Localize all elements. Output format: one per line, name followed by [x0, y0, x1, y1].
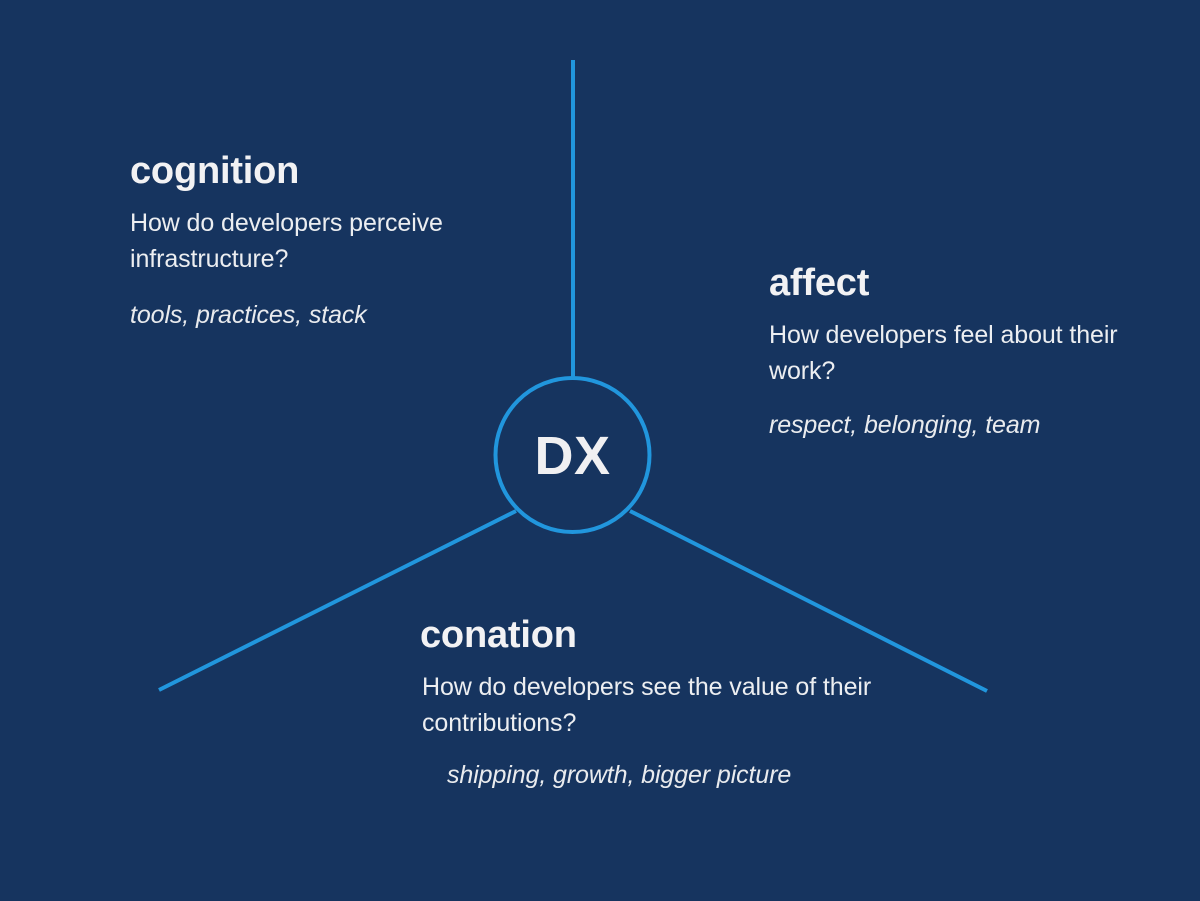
- branch-conation-keywords: shipping, growth, bigger picture: [447, 759, 940, 792]
- branch-conation-question: How do developers see the value of their…: [422, 670, 940, 741]
- diagram-canvas: DX cognition How do developers perceive …: [0, 0, 1200, 901]
- branch-cognition: cognition How do developers perceive inf…: [130, 152, 550, 332]
- branch-cognition-question: How do developers perceive infrastructur…: [130, 206, 550, 277]
- branch-affect-keywords: respect, belonging, team: [769, 409, 1169, 442]
- branch-affect: affect How developers feel about their w…: [769, 264, 1169, 442]
- branch-conation: conation How do developers see the value…: [420, 616, 940, 792]
- branch-conation-title: conation: [420, 616, 940, 654]
- branch-affect-title: affect: [769, 264, 1169, 302]
- branch-affect-question: How developers feel about their work?: [769, 318, 1169, 389]
- branch-cognition-keywords: tools, practices, stack: [130, 299, 550, 332]
- branch-cognition-title: cognition: [130, 152, 550, 190]
- hub-label: DX: [494, 377, 651, 534]
